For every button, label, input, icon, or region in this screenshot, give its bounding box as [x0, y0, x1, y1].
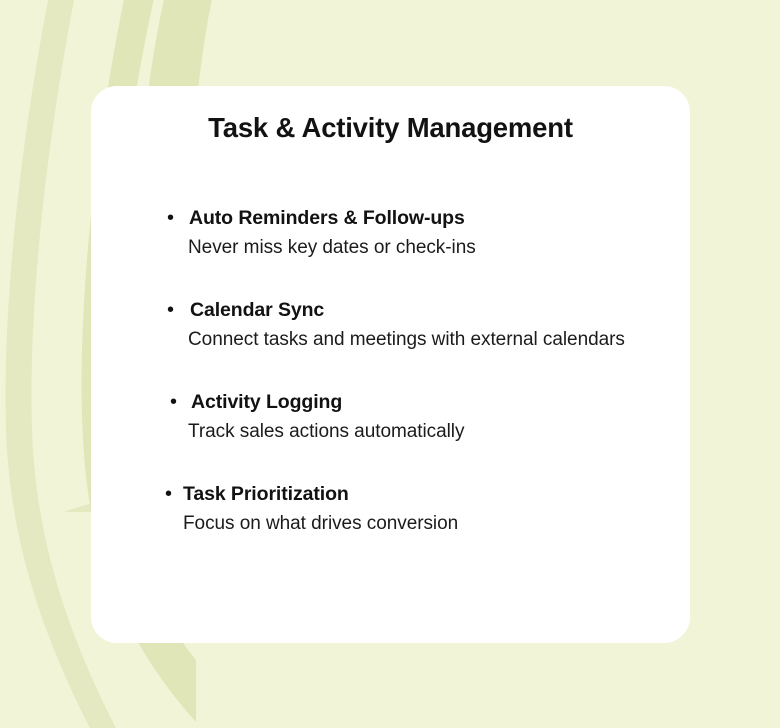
list-item-content: Auto Reminders & Follow-ups Never miss k… — [167, 204, 690, 263]
content-card: Task & Activity Management • Auto Remind… — [91, 86, 690, 643]
bullet-icon: • — [167, 204, 174, 232]
list-item: • Auto Reminders & Follow-ups Never miss… — [91, 204, 690, 263]
feature-title: Task Prioritization — [183, 480, 690, 508]
bullet-icon: • — [167, 296, 174, 324]
feature-list: • Auto Reminders & Follow-ups Never miss… — [91, 204, 690, 572]
list-item-content: Calendar Sync Connect tasks and meetings… — [167, 296, 690, 355]
slide-canvas: Task & Activity Management • Auto Remind… — [0, 0, 780, 728]
list-item: • Task Prioritization Focus on what driv… — [91, 480, 690, 539]
feature-description: Focus on what drives conversion — [183, 508, 655, 539]
feature-title: Auto Reminders & Follow-ups — [189, 204, 690, 232]
list-item-content: Activity Logging Track sales actions aut… — [170, 388, 690, 447]
bullet-icon: • — [170, 388, 177, 416]
feature-description: Track sales actions automatically — [188, 416, 660, 447]
feature-description: Connect tasks and meetings with external… — [188, 324, 660, 355]
feature-description: Never miss key dates or check-ins — [188, 232, 660, 263]
list-item-content: Task Prioritization Focus on what drives… — [165, 480, 690, 539]
feature-title: Calendar Sync — [190, 296, 690, 324]
bullet-icon: • — [165, 480, 172, 508]
feature-title: Activity Logging — [191, 388, 690, 416]
page-title: Task & Activity Management — [91, 112, 690, 144]
list-item: • Calendar Sync Connect tasks and meetin… — [91, 296, 690, 355]
list-item: • Activity Logging Track sales actions a… — [91, 388, 690, 447]
